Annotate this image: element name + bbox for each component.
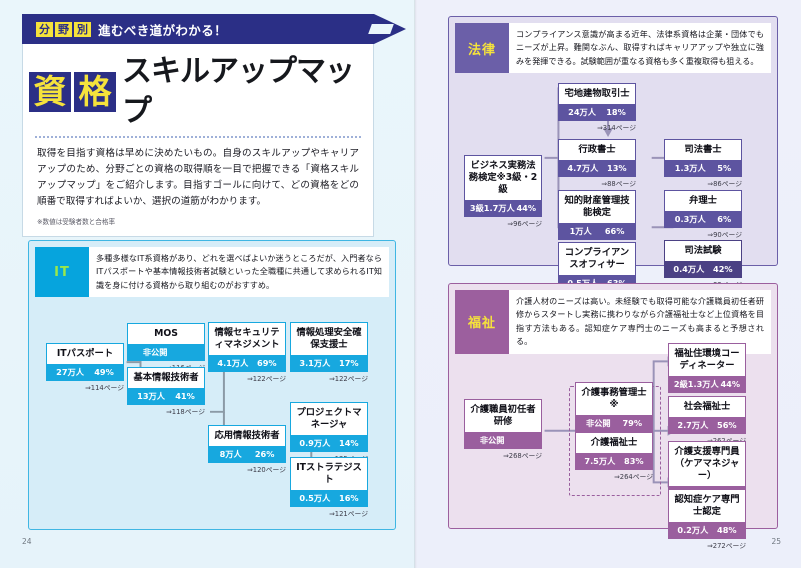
node-stat: 非公開: [127, 344, 205, 361]
node-title: コンプライアンスオフィサー: [558, 242, 636, 275]
node-stat: 7.5万人 83%: [575, 453, 653, 470]
node-it-strategist[interactable]: ITストラテジスト 0.5万人 16% ⇒121ページ: [290, 457, 368, 518]
node-rate: 66%: [605, 226, 625, 236]
node-page-ref: ⇒88ページ: [558, 177, 636, 188]
node-stat: 8万人 26%: [208, 446, 286, 463]
node-people: 3級1.7万人: [470, 202, 515, 214]
node-stat: 0.5万人 16%: [290, 490, 368, 507]
node-people: 0.5万人: [299, 492, 330, 504]
node-page-ref: ⇒122ページ: [290, 372, 368, 383]
node-stat: 2級1.3万人 44%: [668, 376, 746, 393]
node-people: 4.1万人: [217, 357, 248, 369]
title-kanji-1: 資: [29, 72, 71, 112]
title-kanji-2: 格: [74, 72, 116, 112]
lede-paragraph: 取得を目指す資格は早めに決めたいもの。自身のスキルアップやキャリアアップのため、…: [23, 138, 373, 210]
node-rate: 18%: [606, 107, 626, 117]
node-security-management[interactable]: 情報セキュリティマネジメント 4.1万人 69% ⇒122ページ: [208, 322, 286, 383]
node-title: 知的財産管理技能検定: [558, 190, 636, 223]
node-stat: 4.1万人 69%: [208, 355, 286, 372]
node-rate: 83%: [624, 456, 644, 466]
title-card: 資 格 スキルアップマップ 取得を目指す資格は早めに決めたいもの。自身のスキルア…: [22, 44, 374, 237]
node-stat: 1万人 66%: [558, 223, 636, 240]
node-rate: 56%: [717, 420, 737, 430]
node-shakai-fukushi[interactable]: 社会福祉士 2.7万人 56% ⇒262ページ: [668, 396, 746, 445]
node-title: 福祉住環境コーディネーター: [668, 343, 746, 376]
right-page: 法律 コンプライアンス意識が高まる近年、法律系資格は企業・団体でもニーズが上昇。…: [415, 0, 801, 568]
node-it-passport[interactable]: ITパスポート 27万人 49% ⇒114ページ: [46, 343, 124, 392]
node-rate: 49%: [94, 367, 114, 377]
node-stat: 0.4万人 42%: [664, 261, 742, 278]
page-title: 資 格 スキルアップマップ: [23, 52, 373, 132]
node-people: 3.1万人: [299, 357, 330, 369]
node-people: 0.3万人: [675, 213, 706, 225]
node-people: 2.7万人: [677, 419, 708, 431]
node-page-ref: ⇒90ページ: [664, 228, 742, 239]
node-title: 介護事務管理士※: [575, 382, 653, 415]
node-title: 基本情報技術者: [127, 367, 205, 388]
node-title: 行政書士: [558, 139, 636, 160]
node-page-ref: ⇒114ページ: [46, 381, 124, 392]
header-keyword-3: 別: [74, 22, 91, 37]
law-section-description: コンプライアンス意識が高まる近年、法律系資格は企業・団体でもニーズが上昇。難関な…: [509, 23, 771, 73]
node-people: 0.4万人: [673, 263, 704, 275]
it-panel-header: IT 多種多様なIT系資格があり、どれを選べばよいか迷うところだが、入門者ならI…: [29, 241, 395, 303]
node-page-ref: ⇒86ページ: [664, 177, 742, 188]
node-page-ref: ⇒264ページ: [575, 470, 653, 481]
node-title: 司法試験: [664, 240, 742, 261]
node-rate: 16%: [339, 493, 359, 503]
banner-notch-shape: [368, 24, 394, 34]
node-rate: 44%: [516, 203, 536, 213]
welfare-section-badge: 福祉: [455, 290, 509, 354]
node-people: 27万人: [56, 366, 84, 378]
folio-left: 24: [22, 537, 32, 546]
page-gutter: [414, 0, 417, 568]
title-main-text: スキルアップマップ: [122, 52, 373, 132]
node-page-ref: ⇒120ページ: [208, 463, 286, 474]
header-keyword-1: 分: [36, 22, 53, 37]
node-rate: 42%: [713, 264, 733, 274]
node-people: 24万人: [568, 106, 596, 118]
node-jukankyo-coordinator[interactable]: 福祉住環境コーディネーター 2級1.3万人 44% ⇒266ページ: [668, 343, 746, 404]
node-title: 情報セキュリティマネジメント: [208, 322, 286, 355]
node-project-manager[interactable]: プロジェクトマネージャ 0.9万人 14% ⇒125ページ: [290, 402, 368, 463]
node-title: 司法書士: [664, 139, 742, 160]
node-rate: 14%: [339, 438, 359, 448]
node-title: ビジネス実務法務検定※3級・2級: [464, 155, 542, 200]
node-people: 0.2万人: [677, 524, 708, 536]
node-title: ITパスポート: [46, 343, 124, 364]
node-mos[interactable]: MOS 非公開 ⇒116ページ: [127, 323, 205, 372]
node-stat: 2.7万人 56%: [668, 417, 746, 434]
node-stat: 4.7万人 13%: [558, 160, 636, 177]
node-people: 0.9万人: [299, 437, 330, 449]
node-people: 非公開: [480, 434, 505, 446]
node-stat: 非公開 79%: [575, 415, 653, 432]
node-page-ref: ⇒268ページ: [464, 449, 542, 460]
header-keyword-group: 分 野 別: [36, 22, 91, 37]
node-shiho-shiken[interactable]: 司法試験 0.4万人 42% ⇒92ページ: [664, 240, 742, 289]
node-ouyou-joho[interactable]: 応用情報技術者 8万人 26% ⇒120ページ: [208, 425, 286, 474]
node-stat: 3級1.7万人 44%: [464, 200, 542, 217]
header-banner-text: 進むべき道がわかる！: [98, 20, 227, 39]
node-title: 介護福祉士: [575, 432, 653, 453]
law-panel-header: 法律 コンプライアンス意識が高まる近年、法律系資格は企業・団体でもニーズが上昇。…: [449, 17, 777, 79]
node-people: 7.5万人: [584, 455, 615, 467]
it-section-badge: IT: [35, 247, 89, 297]
node-rate: 13%: [607, 163, 627, 173]
node-title: ITストラテジスト: [290, 457, 368, 490]
node-rate: 17%: [339, 358, 359, 368]
header-banner: 分 野 別 進むべき道がわかる！: [22, 14, 374, 44]
node-title: 情報処理安全確保支援士: [290, 322, 368, 355]
node-title: プロジェクトマネージャ: [290, 402, 368, 435]
node-page-ref: ⇒118ページ: [127, 405, 205, 416]
node-stat: 24万人 18%: [558, 104, 636, 121]
it-section-description: 多種多様なIT系資格があり、どれを選べばよいか迷うところだが、入門者ならITパス…: [89, 247, 389, 297]
left-page: 分 野 別 進むべき道がわかる！ 資 格 スキルアップマップ 取得を目指す資格: [0, 0, 415, 568]
node-business-law[interactable]: ビジネス実務法務検定※3級・2級 3級1.7万人 44% ⇒96ページ: [464, 155, 542, 228]
node-title: 介護支援専門員（ケアマネジャー）: [668, 441, 746, 486]
node-page-ref: ⇒122ページ: [208, 372, 286, 383]
node-title: 宅地建物取引士: [558, 83, 636, 104]
magazine-spread: 分 野 別 進むべき道がわかる！ 資 格 スキルアップマップ 取得を目指す資格: [0, 0, 801, 568]
node-benrishi[interactable]: 弁理士 0.3万人 6% ⇒90ページ: [664, 190, 742, 239]
node-people: 2級1.3万人: [674, 378, 719, 390]
law-section-badge: 法律: [455, 23, 509, 73]
node-page-ref: ⇒272ページ: [668, 539, 746, 550]
node-title: 弁理士: [664, 190, 742, 211]
node-stat: 0.2万人 48%: [668, 522, 746, 539]
node-rate: 69%: [257, 358, 277, 368]
folio-right: 25: [771, 537, 781, 546]
node-anzen-kakuho[interactable]: 情報処理安全確保支援士 3.1万人 17% ⇒122ページ: [290, 322, 368, 383]
node-stat: 13万人 41%: [127, 388, 205, 405]
node-kaigo-fukushi[interactable]: 介護福祉士 7.5万人 83% ⇒264ページ: [575, 432, 653, 481]
node-people: 13万人: [137, 390, 165, 402]
node-rate: 79%: [622, 418, 642, 428]
node-people: 1.3万人: [675, 162, 706, 174]
node-title: 認知症ケア専門士認定: [668, 489, 746, 522]
node-people: 8万人: [220, 448, 242, 460]
node-kaigo-shoninsha[interactable]: 介護職員初任者研修 非公開 ⇒268ページ: [464, 399, 542, 460]
node-title: 社会福祉士: [668, 396, 746, 417]
lede-footnote: ※数値は受験者数と合格率: [23, 210, 373, 226]
node-rate: 41%: [175, 391, 195, 401]
node-title: MOS: [127, 323, 205, 344]
node-rate: 48%: [717, 525, 737, 535]
node-stat: 0.3万人 6%: [664, 211, 742, 228]
title-kanji-group: 資 格: [29, 72, 116, 112]
node-title: 介護職員初任者研修: [464, 399, 542, 432]
node-gyosei-shoshi[interactable]: 行政書士 4.7万人 13% ⇒88ページ: [558, 139, 636, 188]
node-stat: 1.3万人 5%: [664, 160, 742, 177]
node-takken[interactable]: 宅地建物取引士 24万人 18% ⇒314ページ: [558, 83, 636, 132]
node-people: 4.7万人: [567, 162, 598, 174]
header-keyword-2: 野: [55, 22, 72, 37]
node-page-ref: ⇒96ページ: [464, 217, 542, 228]
node-people: 1万人: [570, 225, 592, 237]
node-page-ref: ⇒314ページ: [558, 121, 636, 132]
node-stat: 非公開: [464, 432, 542, 449]
node-title: 応用情報技術者: [208, 425, 286, 446]
node-stat: 0.9万人 14%: [290, 435, 368, 452]
node-stat: 3.1万人 17%: [290, 355, 368, 372]
article-header: 分 野 別 進むべき道がわかる！ 資 格 スキルアップマップ 取得を目指す資格: [22, 14, 374, 237]
node-kihon-joho[interactable]: 基本情報技術者 13万人 41% ⇒118ページ: [127, 367, 205, 416]
node-page-ref: ⇒121ページ: [290, 507, 368, 518]
node-rate: 26%: [255, 449, 275, 459]
node-people: 非公開: [586, 417, 611, 429]
node-rate: 44%: [720, 379, 740, 389]
node-people: 非公開: [143, 346, 168, 358]
node-shiho-shoshi[interactable]: 司法書士 1.3万人 5% ⇒86ページ: [664, 139, 742, 188]
node-rate: 6%: [717, 214, 731, 224]
node-rate: 5%: [717, 163, 731, 173]
node-ninchisho-care[interactable]: 認知症ケア専門士認定 0.2万人 48% ⇒272ページ: [668, 489, 746, 550]
node-stat: 27万人 49%: [46, 364, 124, 381]
